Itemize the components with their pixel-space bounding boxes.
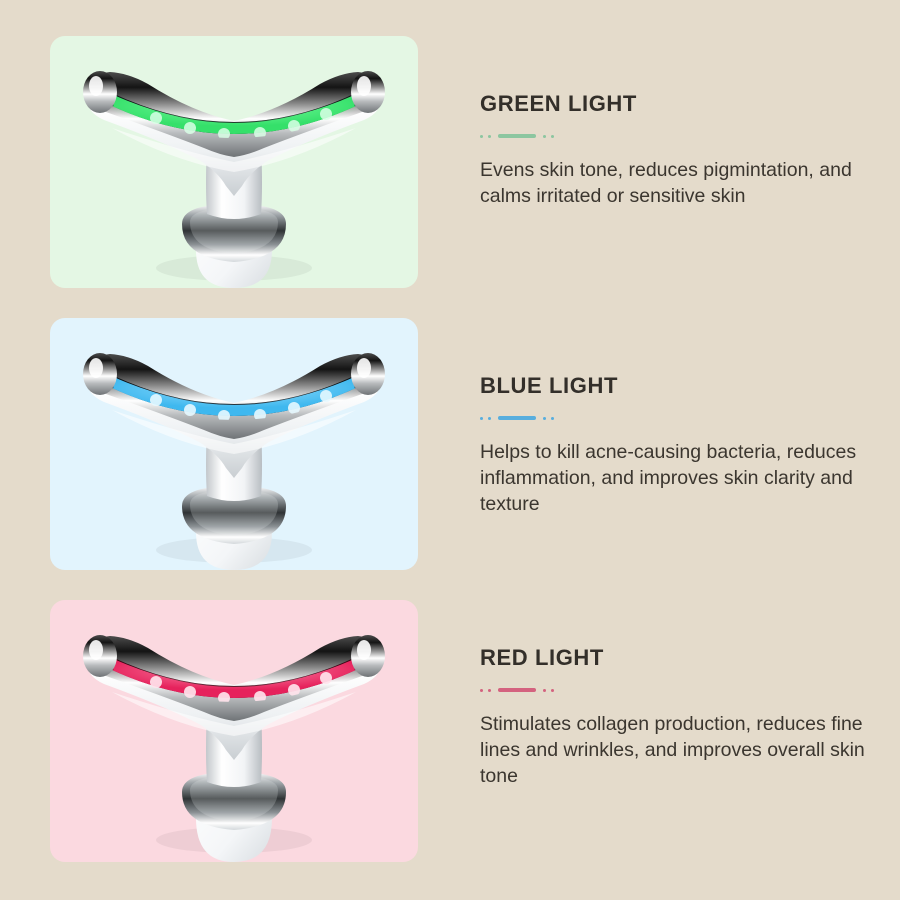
heading-blue-light: BLUE LIGHT	[480, 374, 870, 398]
divider-green	[480, 133, 870, 139]
divider-dot	[488, 135, 491, 138]
device-image-green	[64, 36, 404, 288]
divider-dot	[488, 689, 491, 692]
section-red-light: RED LIGHT Stimulates collagen production…	[0, 600, 900, 862]
device-image-blue	[64, 318, 404, 570]
text-block-blue: BLUE LIGHT Helps to kill acne-causing ba…	[418, 318, 900, 518]
divider-dot	[480, 417, 483, 420]
text-block-green: GREEN LIGHT Evens skin tone, reduces pig…	[418, 36, 900, 210]
heading-green-light: GREEN LIGHT	[480, 92, 870, 116]
divider-dash	[498, 416, 536, 420]
divider-red	[480, 687, 870, 693]
section-green-light: GREEN LIGHT Evens skin tone, reduces pig…	[0, 36, 900, 288]
neck-lifting-led-device-icon	[64, 600, 404, 862]
section-blue-light: BLUE LIGHT Helps to kill acne-causing ba…	[0, 318, 900, 570]
neck-lifting-led-device-icon	[64, 36, 404, 288]
device-image-red	[64, 600, 404, 862]
device-card-red	[50, 600, 418, 862]
divider-dot	[543, 689, 546, 692]
divider-dash	[498, 134, 536, 138]
device-card-green	[50, 36, 418, 288]
heading-red-light: RED LIGHT	[480, 646, 870, 670]
divider-dot	[551, 417, 554, 420]
text-block-red: RED LIGHT Stimulates collagen production…	[418, 600, 900, 790]
divider-dot	[480, 689, 483, 692]
divider-dot	[551, 689, 554, 692]
divider-dash	[498, 688, 536, 692]
divider-dot	[543, 417, 546, 420]
neck-lifting-led-device-icon	[64, 318, 404, 570]
divider-dot	[488, 417, 491, 420]
divider-blue	[480, 415, 870, 421]
divider-dot	[480, 135, 483, 138]
divider-dot	[551, 135, 554, 138]
body-red-light: Stimulates collagen production, reduces …	[480, 712, 870, 790]
led-light-therapy-infographic: GREEN LIGHT Evens skin tone, reduces pig…	[0, 0, 900, 900]
device-card-blue	[50, 318, 418, 570]
body-green-light: Evens skin tone, reduces pigmintation, a…	[480, 158, 870, 210]
body-blue-light: Helps to kill acne-causing bacteria, red…	[480, 440, 870, 518]
divider-dot	[543, 135, 546, 138]
